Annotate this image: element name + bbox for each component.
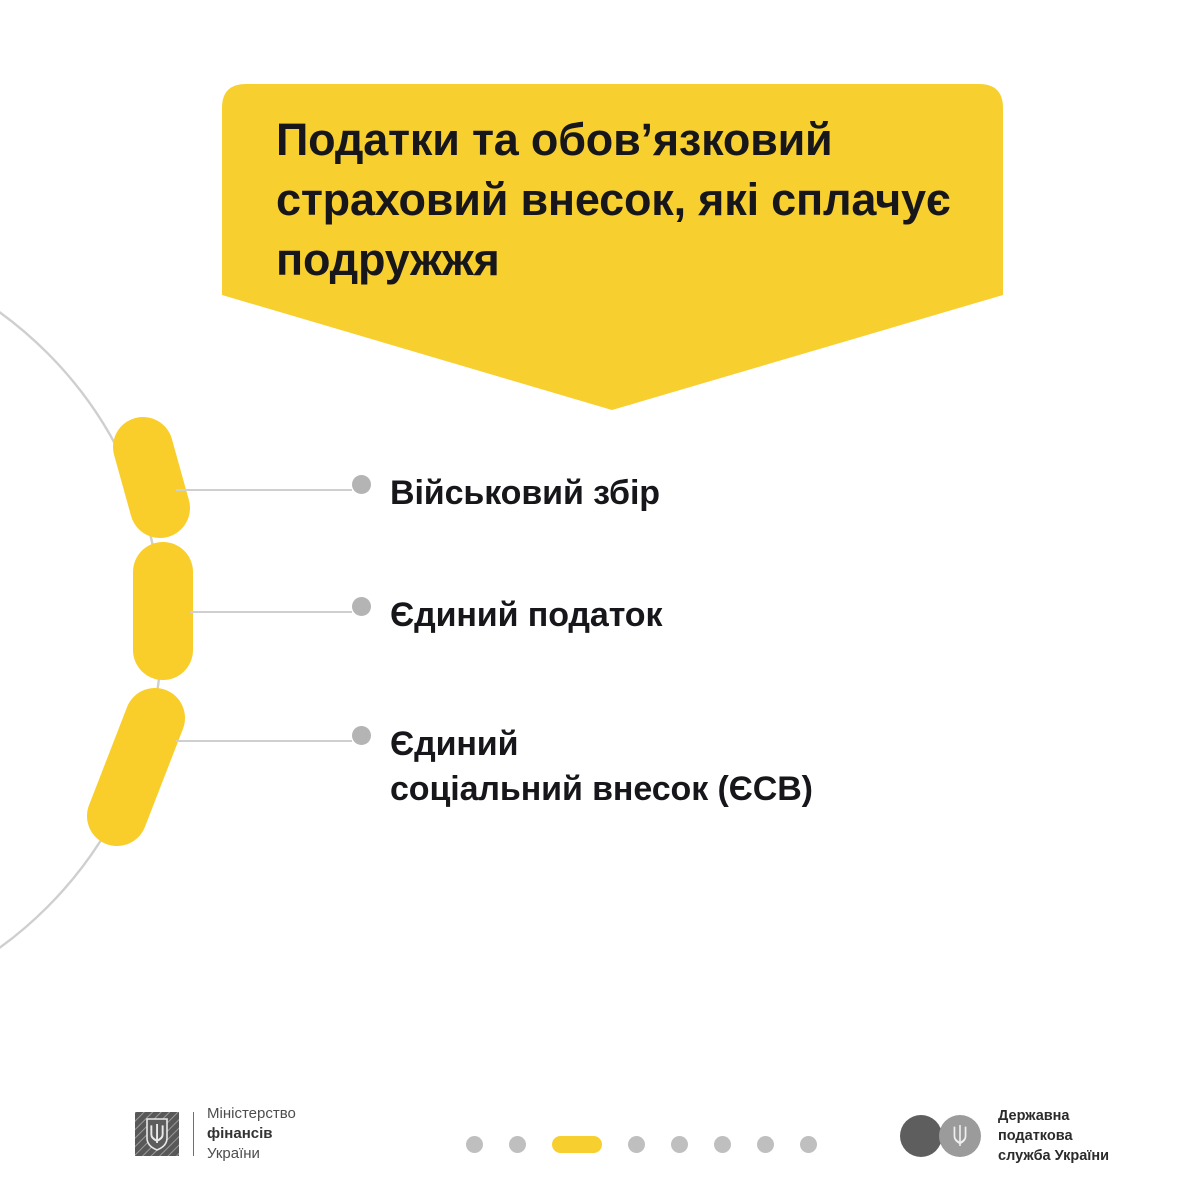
pagination-dot-4[interactable] xyxy=(628,1136,645,1153)
tax-service-circles-trident-icon xyxy=(900,1115,984,1157)
ministry-logo-text: Міністерство фінансів України xyxy=(207,1104,296,1163)
list-item: Єдиний соціальний внесок (ЄСВ) xyxy=(352,722,813,811)
pagination-dot-7[interactable] xyxy=(757,1136,774,1153)
pagination-dot-5[interactable] xyxy=(671,1136,688,1153)
list-item-label: Військовий збір xyxy=(390,471,660,516)
logo-divider xyxy=(193,1112,194,1156)
pagination-dot-8[interactable] xyxy=(800,1136,817,1153)
list-item-label: Єдиний податок xyxy=(390,593,662,638)
pagination-dot-1[interactable] xyxy=(466,1136,483,1153)
ministry-of-finance-logo: Міністерство фінансів України xyxy=(135,1104,296,1163)
pagination-dot-2[interactable] xyxy=(509,1136,526,1153)
list-item-label: Єдиний соціальний внесок (ЄСВ) xyxy=(390,722,813,811)
list-item: Військовий збір xyxy=(352,471,660,516)
state-tax-service-logo: Державна податкова служба України xyxy=(900,1106,1109,1166)
ministry-line-2: фінансів xyxy=(207,1124,296,1144)
ministry-line-1: Міністерство xyxy=(207,1104,296,1124)
bullet-dot-icon xyxy=(352,475,371,494)
bullet-dot-icon xyxy=(352,726,371,745)
ukraine-trident-shield-icon xyxy=(135,1112,179,1156)
pagination-indicator[interactable] xyxy=(466,1136,817,1153)
tax-service-logo-text: Державна податкова служба України xyxy=(998,1106,1109,1166)
infographic-slide: Податки та обов’язковий страховий внесок… xyxy=(0,0,1200,1200)
tax-items-list: Військовий збір Єдиний податок Єдиний со… xyxy=(0,0,1200,1200)
tax-line-1: Державна xyxy=(998,1106,1109,1126)
tax-line-2: податкова xyxy=(998,1126,1109,1146)
tax-line-3: служба України xyxy=(998,1146,1109,1166)
pagination-dot-6[interactable] xyxy=(714,1136,731,1153)
ministry-line-3: України xyxy=(207,1144,296,1164)
list-item: Єдиний податок xyxy=(352,593,662,638)
bullet-dot-icon xyxy=(352,597,371,616)
pagination-dot-3-active[interactable] xyxy=(552,1136,602,1153)
